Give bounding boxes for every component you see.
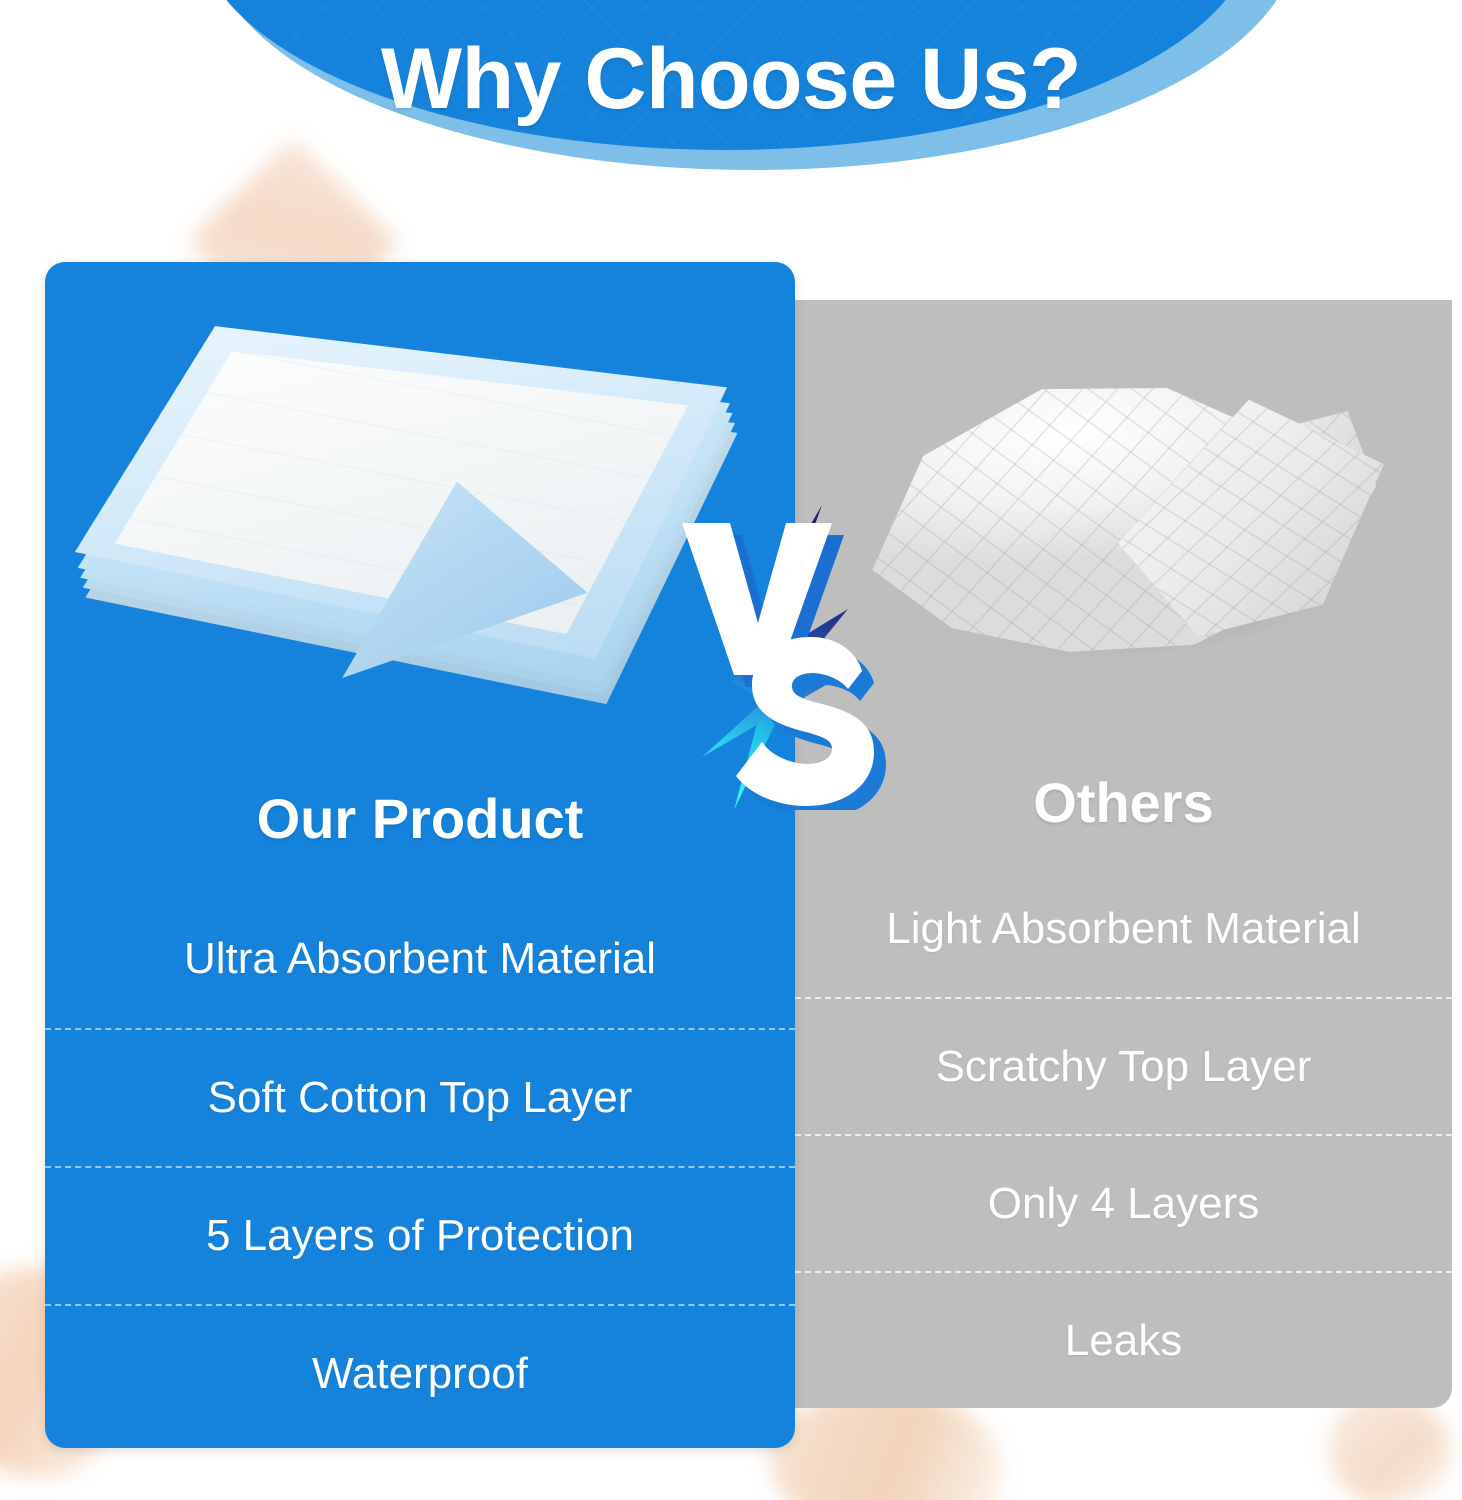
list-item: Only 4 Layers <box>795 1134 1452 1271</box>
crumpled-pad-illustration <box>843 332 1392 685</box>
list-item: Scratchy Top Layer <box>795 997 1452 1134</box>
others-heading: Others <box>795 775 1452 831</box>
our-product-image <box>45 262 795 732</box>
our-product-feature-list: Ultra Absorbent Material Soft Cotton Top… <box>45 890 795 1442</box>
list-item: Leaks <box>795 1271 1452 1408</box>
others-feature-list: Light Absorbent Material Scratchy Top La… <box>795 860 1452 1408</box>
list-item: Soft Cotton Top Layer <box>45 1028 795 1166</box>
list-item: Light Absorbent Material <box>795 860 1452 997</box>
infographic-canvas: Why Choose Us? Our Product Others <box>0 0 1462 1500</box>
our-product-heading: Our Product <box>45 791 795 847</box>
page-title: Why Choose Us? <box>0 36 1462 122</box>
background-texture-bottom-right <box>1330 1395 1450 1500</box>
list-item: Waterproof <box>45 1304 795 1442</box>
pad-stack-illustration <box>63 290 763 725</box>
list-item: 5 Layers of Protection <box>45 1166 795 1304</box>
others-product-image <box>795 300 1452 730</box>
list-item: Ultra Absorbent Material <box>45 890 795 1028</box>
